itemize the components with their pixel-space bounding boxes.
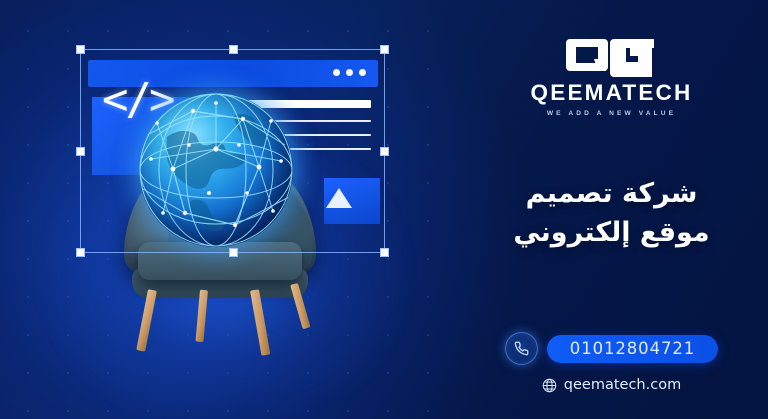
resize-handle-middle-right[interactable] xyxy=(380,147,389,156)
headline-line-2: موقع إلكتروني xyxy=(455,213,768,253)
resize-handle-bottom-left[interactable] xyxy=(76,248,85,257)
phone-icon[interactable] xyxy=(505,332,538,365)
chair-leg xyxy=(250,289,270,356)
resize-handle-top-left[interactable] xyxy=(76,45,85,54)
brand-name: QEEMATECH xyxy=(455,82,768,105)
brand-tagline: WE ADD A NEW VALUE xyxy=(455,110,768,117)
headline: شركة تصميم موقع إلكتروني xyxy=(455,174,768,254)
headline-line-1: شركة تصميم xyxy=(455,174,768,214)
resize-handle-bottom-center[interactable] xyxy=(229,248,238,257)
globe-icon xyxy=(542,378,557,393)
resize-handle-bottom-right[interactable] xyxy=(380,248,389,257)
qg-monogram-icon xyxy=(564,33,660,77)
phone-row[interactable]: 01012804721 xyxy=(505,332,718,365)
content-panel: QEEMATECH WE ADD A NEW VALUE شركة تصميم … xyxy=(455,0,768,419)
resize-handle-top-center[interactable] xyxy=(229,45,238,54)
website-row[interactable]: qeematech.com xyxy=(542,377,681,393)
resize-handle-top-right[interactable] xyxy=(380,45,389,54)
artwork-panel: </> xyxy=(0,0,455,419)
phone-number-pill[interactable]: 01012804721 xyxy=(547,335,718,363)
promo-banner: </> xyxy=(0,0,768,419)
selection-frame[interactable] xyxy=(80,49,385,253)
brand-logo: QEEMATECH WE ADD A NEW VALUE xyxy=(455,33,768,117)
website-url[interactable]: qeematech.com xyxy=(564,377,681,393)
resize-handle-middle-left[interactable] xyxy=(76,147,85,156)
chair-leg xyxy=(136,289,157,352)
contact-block: 01012804721 qeematech.com xyxy=(455,332,768,393)
